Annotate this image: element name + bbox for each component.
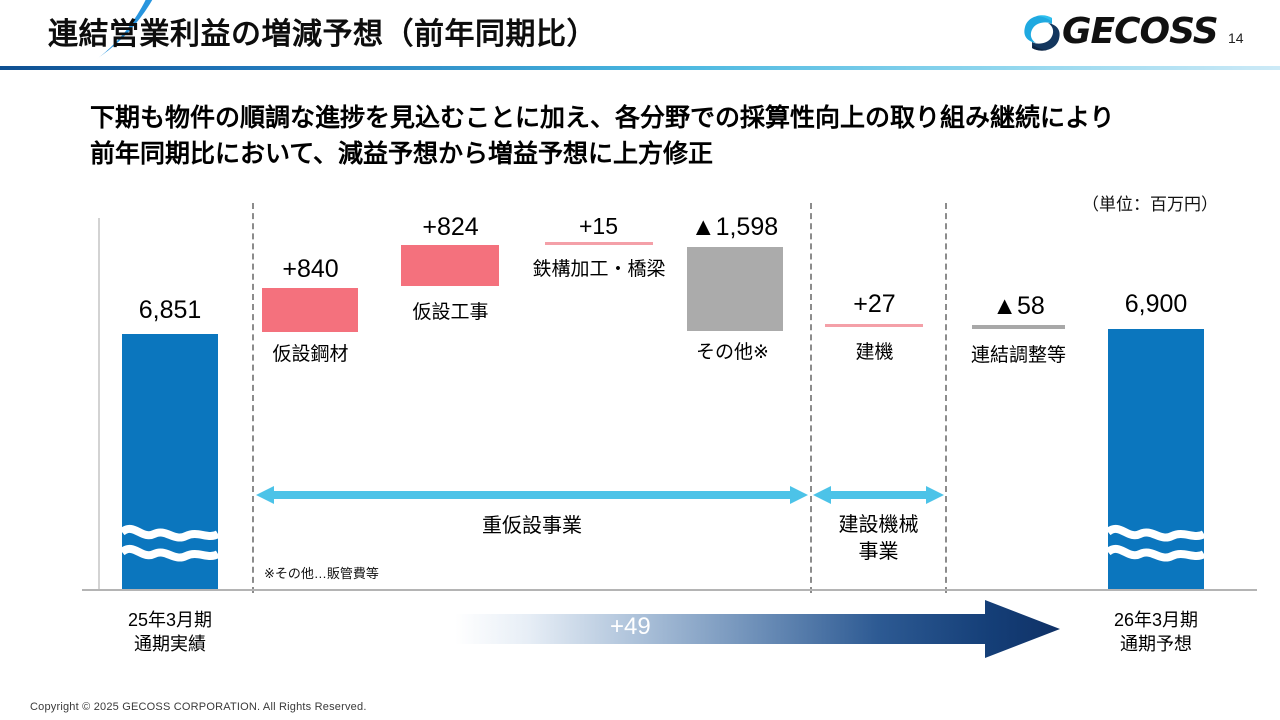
chart-footnote: ※その他…販管費等 [264, 563, 379, 582]
segment-label-jukasetsu: 重仮設事業 [256, 513, 808, 540]
bar-value-total-start: 6,851 [120, 296, 220, 325]
bar-renketsu-chosei [972, 325, 1065, 329]
page-title: 連結営業利益の増減予想（前年同期比） [48, 14, 597, 56]
axis-category-end: 26年3月期 通期予想 [1091, 608, 1221, 656]
segment-label-kensetsu-kikai-line2: 事業 [813, 539, 944, 566]
lead-paragraph: 下期も物件の順調な進捗を見込むことに加え、各分野での採算性向上の取り組み継続によ… [90, 100, 1210, 172]
separator-line-1 [252, 203, 254, 593]
axis-category-end-line2: 通期予想 [1091, 632, 1221, 656]
segment-label-kensetsu-kikai: 建設機械 事業 [813, 512, 944, 566]
bar-value-tekko-kako: +15 [546, 213, 651, 240]
chart-baseline [82, 589, 1257, 591]
bar-sonota [687, 247, 783, 331]
segment-label-kensetsu-kikai-line1: 建設機械 [813, 512, 944, 539]
slide-header: 連結営業利益の増減予想（前年同期比） GECOSS 14 [0, 0, 1280, 70]
axis-category-start-line1: 25年3月期 [105, 608, 235, 632]
bar-total-start [122, 334, 218, 589]
separator-line-3 [945, 203, 947, 593]
bar-value-kasetsu-kozai: +840 [258, 255, 363, 284]
slide: 連結営業利益の増減予想（前年同期比） GECOSS 14 下期も物件の順調な進捗… [0, 0, 1280, 720]
bar-label-renketsu-chosei: 連結調整等 [961, 340, 1076, 367]
axis-category-end-line1: 26年3月期 [1091, 608, 1221, 632]
axis-category-start: 25年3月期 通期実績 [105, 608, 235, 656]
logo-wordmark: GECOSS [1062, 11, 1218, 52]
bar-kenki [825, 324, 923, 327]
footer-copyright: Copyright © 2025 GECOSS CORPORATION. All… [30, 701, 367, 713]
bar-label-tekko-kako: 鉄構加工・橋梁 [518, 254, 680, 281]
net-change-arrow-label: +49 [610, 613, 651, 641]
bar-value-total-end: 6,900 [1106, 290, 1206, 319]
lead-line-1: 下期も物件の順調な進捗を見込むことに加え、各分野での採算性向上の取り組み継続によ… [90, 100, 1210, 136]
bar-value-renketsu-chosei: ▲58 [966, 292, 1071, 321]
segment-arrow-kensetsu-kikai [813, 485, 944, 505]
bar-value-sonota: ▲1,598 [682, 213, 787, 242]
bar-tekko-kako [545, 242, 653, 245]
gecoss-g-mark-icon [1018, 9, 1066, 57]
segment-arrow-jukasetsu [256, 485, 808, 505]
net-change-arrow [455, 600, 1060, 658]
bar-total-end [1108, 329, 1204, 589]
gecoss-logo: GECOSS [1018, 8, 1203, 58]
bar-label-kasetsu-koji: 仮設工事 [398, 297, 503, 324]
header-divider [0, 66, 1280, 70]
bar-value-kenki: +27 [822, 290, 927, 319]
separator-line-2 [810, 203, 812, 593]
bar-label-sonota: その他※ [680, 337, 785, 364]
bar-kasetsu-koji [401, 245, 499, 286]
page-number: 14 [1228, 30, 1244, 46]
bar-label-kasetsu-kozai: 仮設鋼材 [258, 339, 363, 366]
bar-value-kasetsu-koji: +824 [398, 213, 503, 242]
bar-label-kenki: 建機 [822, 337, 927, 364]
segment-label-jukasetsu-text: 重仮設事業 [482, 515, 582, 537]
axis-category-start-line2: 通期実績 [105, 632, 235, 656]
unit-note: （単位：百万円） [1082, 190, 1218, 215]
chart-left-axis [98, 218, 100, 589]
lead-line-2: 前年同期比において、減益予想から増益予想に上方修正 [90, 136, 1210, 172]
bar-kasetsu-kozai [262, 288, 358, 332]
